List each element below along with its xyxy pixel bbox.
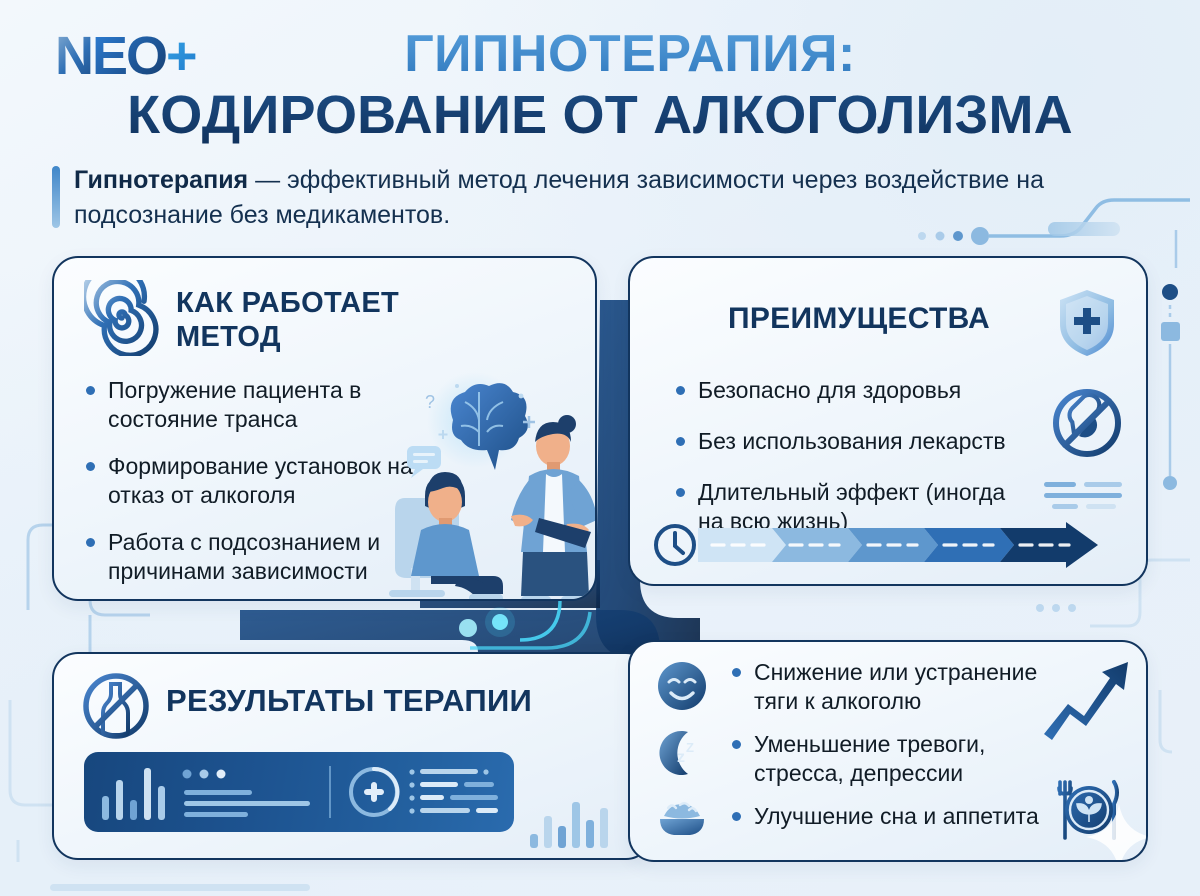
lede-strong: Гипнотерапия	[74, 166, 248, 194]
results-dashboard-panel	[84, 752, 514, 832]
list-item: Безопасно для здоровья	[674, 376, 1034, 405]
card4-bullet-list: Снижение или устранение тяги к алкоголю …	[730, 658, 1060, 845]
mini-bar-chart	[526, 794, 626, 850]
list-item: Улучшение сна и аппетита	[730, 802, 1060, 831]
hypnosis-spiral-icon	[84, 280, 160, 356]
title-line-1: ГИПНОТЕРАПИЯ:	[0, 25, 1200, 83]
dashboard-graphics	[84, 752, 514, 832]
list-item: Уменьшение тревоги, стресса, депрессии	[730, 730, 1060, 788]
card-results-list: z Z Снижение или устранение тяги к алког…	[628, 640, 1148, 862]
food-bowl-icon	[656, 792, 708, 844]
growth-arrow-icon	[1040, 650, 1132, 742]
no-pills-icon	[1050, 386, 1124, 460]
card3-heading: РЕЗУЛЬТАТЫ ТЕРАПИИ	[166, 684, 532, 718]
lede-paragraph: Гипнотерапия — эффективный метод лечения…	[52, 163, 1112, 233]
svg-text:?: ?	[425, 392, 435, 412]
list-item: Снижение или устранение тяги к алкоголю	[730, 658, 1060, 716]
card-how-it-works: КАК РАБОТАЕТ МЕТОД Погружение пациента в…	[52, 256, 597, 601]
svg-text:Z: Z	[686, 740, 694, 755]
sparkle-decoration	[1080, 798, 1148, 862]
duration-timeline-arrow	[652, 522, 1122, 568]
list-item: Без использования лекарств	[674, 427, 1034, 456]
svg-text:z: z	[677, 749, 685, 766]
therapy-session-illustration: ?	[353, 368, 597, 601]
shield-plus-icon	[1056, 288, 1118, 358]
text-lines-decoration	[1044, 480, 1122, 510]
no-alcohol-bottle-icon	[80, 670, 152, 742]
title-line-2: КОДИРОВАНИЕ ОТ АЛКОГОЛИЗМА	[0, 85, 1200, 145]
card-therapy-results: РЕЗУЛЬТАТЫ ТЕРАПИИ	[52, 652, 652, 860]
page-title: ГИПНОТЕРАПИЯ: КОДИРОВАНИЕ ОТ АЛКОГОЛИЗМА	[0, 25, 1200, 145]
card1-heading: КАК РАБОТАЕТ МЕТОД	[176, 286, 506, 354]
card-advantages: ПРЕИМУЩЕСТВА Безопасно для здоровья Без …	[628, 256, 1148, 586]
infographic-root: NEO+ ГИПНОТЕРАПИЯ: КОДИРОВАНИЕ ОТ АЛКОГО…	[0, 0, 1200, 896]
calm-face-icon	[656, 660, 708, 712]
sleep-moon-icon: z Z	[656, 726, 708, 778]
